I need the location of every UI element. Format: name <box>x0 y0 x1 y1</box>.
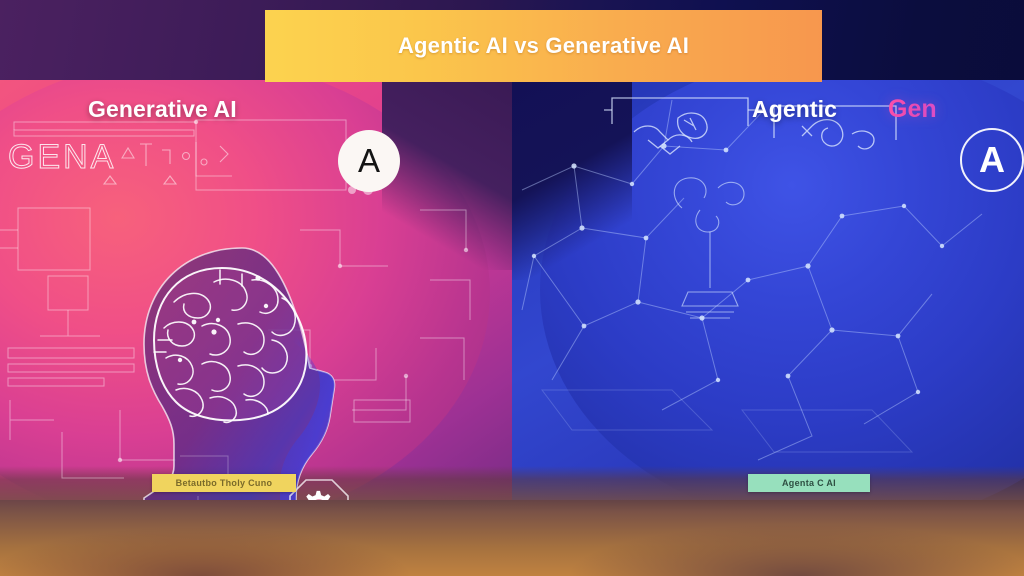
banner-title-text: Agentic AI vs Generative AI <box>398 33 689 59</box>
agentic-pill-label: Agenta C AI <box>748 474 870 492</box>
slide-canvas: Generative AI Agentic Gen GENA A A Betau… <box>0 0 1024 576</box>
agentic-accent-word: Gen <box>888 95 937 124</box>
generative-a-badge: A <box>338 130 400 192</box>
agentic-ai-panel <box>512 80 1024 500</box>
agentic-panel-corner-wedge <box>512 80 632 280</box>
generative-panel-corner-wedge <box>382 80 512 270</box>
agentic-a-badge: A <box>960 128 1024 192</box>
generative-panel-heading: Generative AI <box>88 96 237 123</box>
gear-icon <box>288 478 350 500</box>
title-banner: Agentic AI vs Generative AI <box>265 10 822 82</box>
agentic-panel-heading: Agentic <box>752 96 837 123</box>
generative-head-figure <box>110 240 370 500</box>
generative-pill-label: Betautbo Tholy Cuno <box>152 474 296 492</box>
generative-wordmark: GENA <box>8 138 116 177</box>
